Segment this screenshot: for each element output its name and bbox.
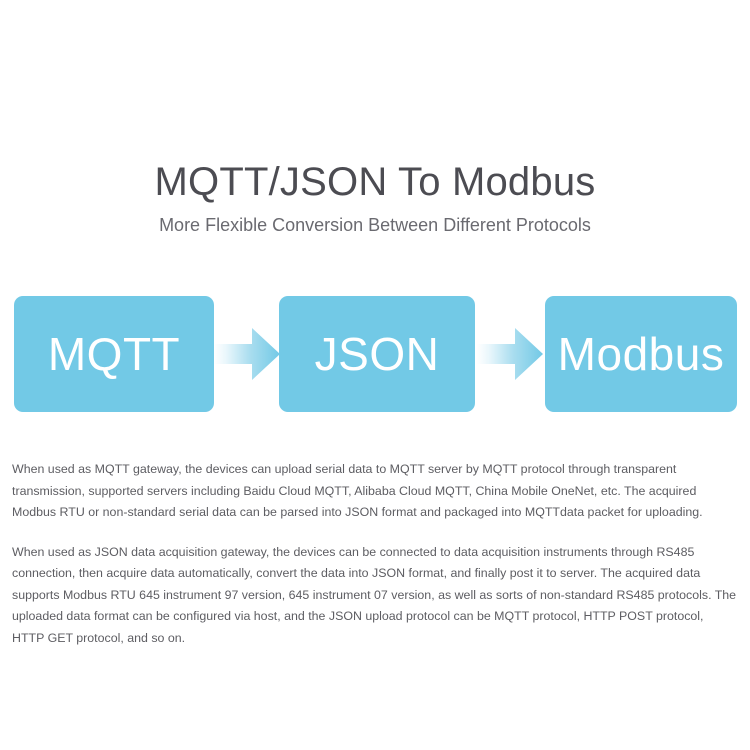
flow-node-modbus: Modbus [545,296,737,412]
page-subtitle: More Flexible Conversion Between Differe… [0,212,750,238]
flow-node-modbus-label: Modbus [558,331,725,377]
flow-node-mqtt-label: MQTT [48,331,180,377]
protocol-flow-diagram: MQTT JSON [0,296,750,412]
flow-node-json: JSON [279,296,475,412]
flow-node-mqtt: MQTT [14,296,214,412]
paragraph-json-gateway: When used as JSON data acquisition gatew… [12,542,738,650]
page-title: MQTT/JSON To Modbus [0,158,750,206]
arrow-right-icon [477,326,543,382]
paragraph-mqtt-gateway: When used as MQTT gateway, the devices c… [12,459,738,524]
flow-node-json-label: JSON [315,331,440,377]
product-info-page: MQTT/JSON To Modbus More Flexible Conver… [0,0,750,750]
arrow-right-icon [214,326,280,382]
description-block: When used as MQTT gateway, the devices c… [12,459,738,649]
